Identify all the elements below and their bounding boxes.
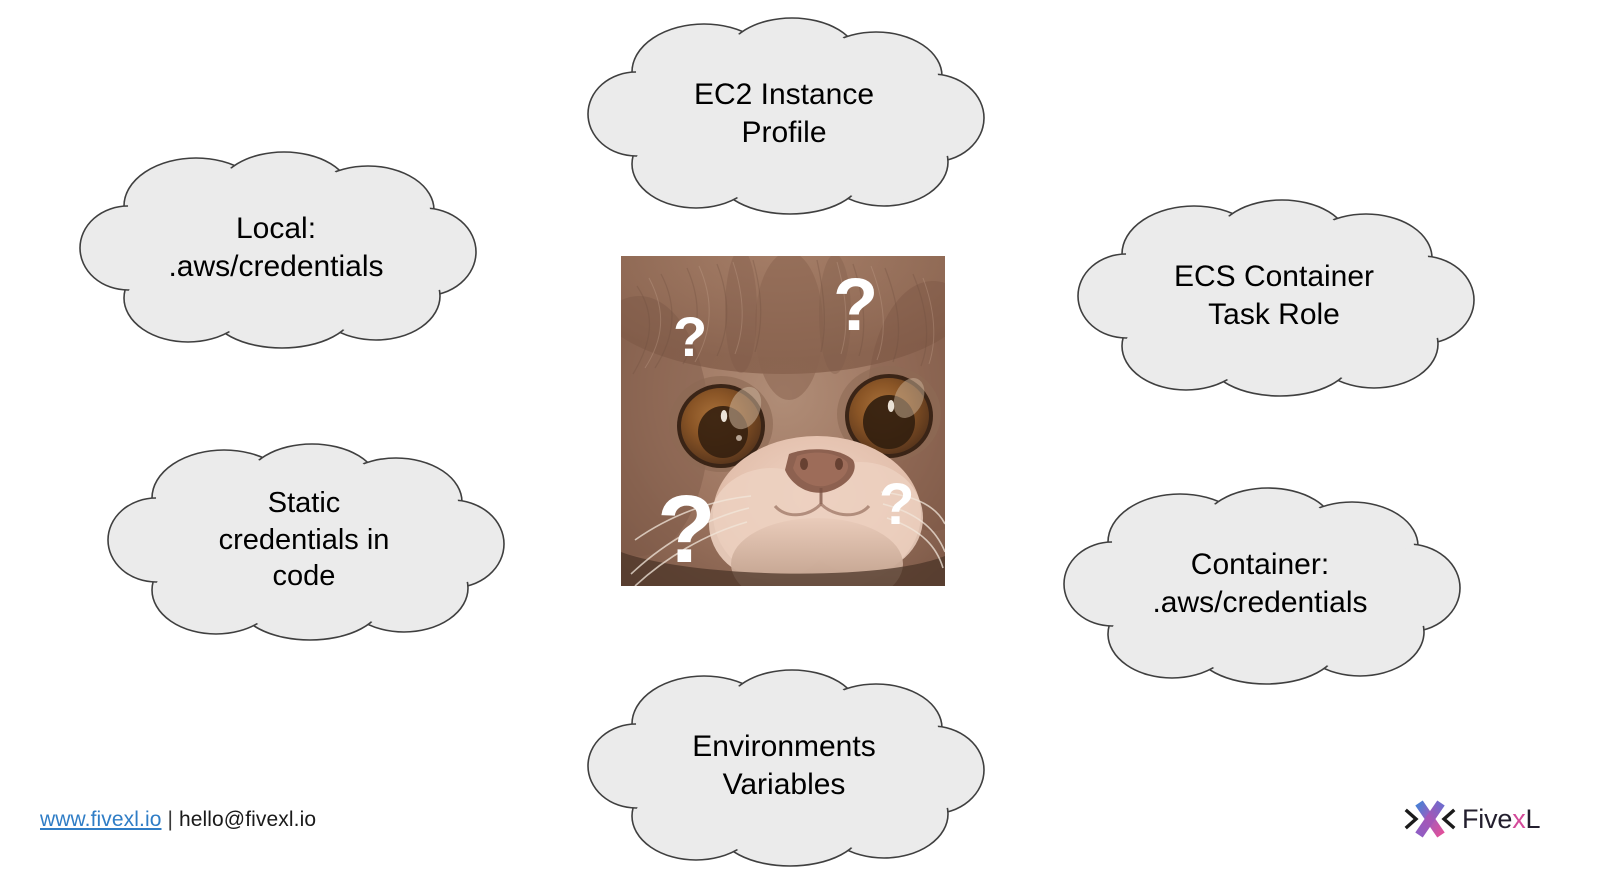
confused-cat-meme-image: ? ? ? ? ? [621, 256, 945, 586]
cloud-shape-ecs-container-task-role: ECS Container Task Role [1074, 196, 1474, 396]
cloud-label-environment-variables: Environments Variables [584, 728, 984, 804]
cloud-shape-environment-variables: Environments Variables [584, 666, 984, 866]
contact-email[interactable]: hello@fivexl.io [179, 808, 316, 831]
wordmark-l: L [1526, 804, 1541, 834]
website-link[interactable]: www.fivexl.io [40, 808, 162, 831]
cloud-shape-static-credentials: Static credentials in code [104, 440, 504, 640]
cloud-shape-ec2-instance-profile: EC2 Instance Profile [584, 14, 984, 214]
cloud-label-ec2-instance-profile: EC2 Instance Profile [584, 76, 984, 152]
cloud-shape-local-credentials: Local: .aws/credentials [76, 148, 476, 348]
cloud-label-ecs-container-task-role: ECS Container Task Role [1074, 258, 1474, 334]
footer-contact: www.fivexl.io | hello@fivexl.io [40, 808, 316, 832]
svg-text:?: ? [673, 305, 707, 368]
fivexl-logo: FivexL [1404, 792, 1560, 846]
fivexl-x-mark-icon [1404, 796, 1456, 842]
cloud-label-local-credentials: Local: .aws/credentials [76, 210, 476, 286]
svg-text:?: ? [833, 263, 878, 346]
svg-text:?: ? [879, 472, 914, 537]
footer-separator: | [167, 808, 173, 831]
svg-text:?: ? [657, 476, 716, 583]
cloud-label-static-credentials: Static credentials in code [104, 485, 504, 595]
cloud-shape-container-credentials: Container: .aws/credentials [1060, 484, 1460, 684]
slide-canvas: Local: .aws/credentials [0, 0, 1600, 896]
cloud-label-container-credentials: Container: .aws/credentials [1060, 546, 1460, 622]
fivexl-wordmark: FivexL [1462, 806, 1540, 833]
wordmark-five: Five [1462, 804, 1512, 834]
wordmark-x: x [1512, 804, 1525, 834]
